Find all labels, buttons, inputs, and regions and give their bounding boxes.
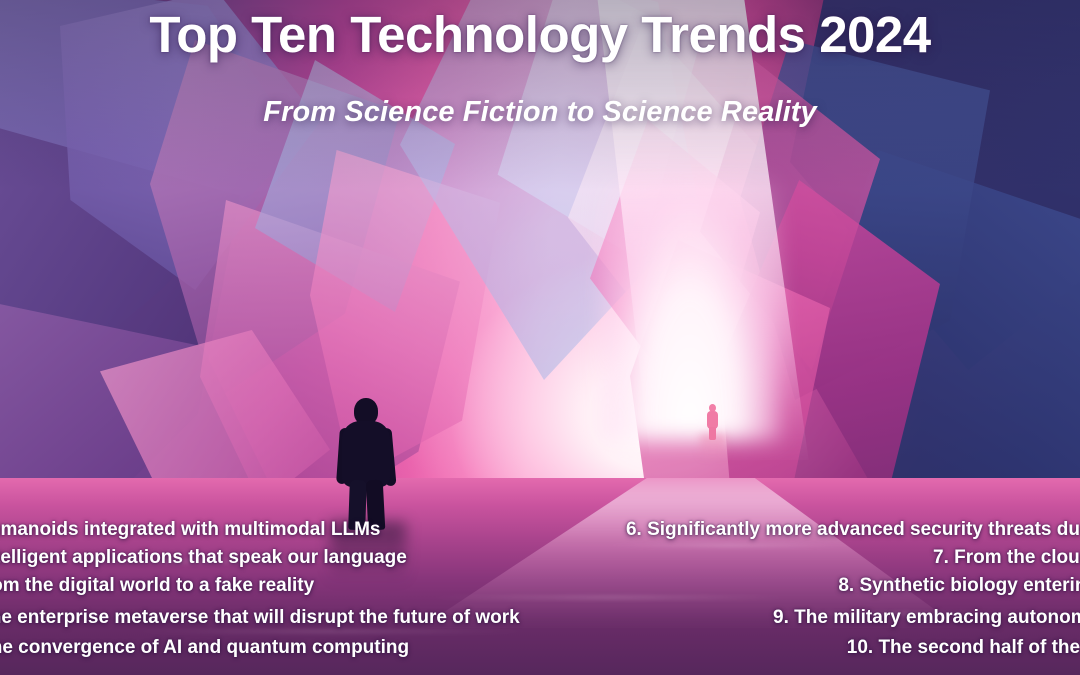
page-subtitle: From Science Fiction to Science Reality: [0, 96, 1080, 129]
trend-item-5: 5. The convergence of AI and quantum com…: [0, 637, 409, 659]
walking-person-silhouette: [336, 398, 398, 530]
trend-item-3: 3. From the digital world to a fake real…: [0, 575, 314, 597]
trend-row: 3. From the digital world to a fake real…: [0, 572, 1080, 600]
trend-item-1: 1. Humanoids integrated with multimodal …: [0, 519, 380, 541]
trend-item-2: 2. Intelligent applications that speak o…: [0, 547, 407, 569]
trend-row: 1. Humanoids integrated with multimodal …: [0, 516, 1080, 544]
trend-row: 5. The convergence of AI and quantum com…: [0, 634, 1080, 662]
page-title: Top Ten Technology Trends 2024: [0, 8, 1080, 61]
trend-item-4: 4. The enterprise metaverse that will di…: [0, 607, 520, 629]
trend-list: 1. Humanoids integrated with multimodal …: [0, 514, 1080, 675]
poster-canvas: Top Ten Technology Trends 2024 From Scie…: [0, 0, 1080, 675]
trend-item-10: 10. The second half of the chessboard: [847, 637, 1080, 659]
trend-item-9: 9. The military embracing autonomous wea…: [773, 607, 1080, 629]
near-figure-torso: [342, 421, 390, 487]
distant-figure-legs: [709, 427, 716, 440]
trend-item-8: 8. Synthetic biology entering mainstream: [838, 575, 1080, 597]
distant-person-figure: [705, 404, 720, 438]
trend-item-6: 6. Significantly more advanced security …: [626, 519, 1080, 541]
trend-row: 4. The enterprise metaverse that will di…: [0, 604, 1080, 632]
light-core-glow: [600, 180, 780, 440]
trend-item-7: 7. From the cloud to the edge: [933, 547, 1080, 569]
trend-row: 2. Intelligent applications that speak o…: [0, 544, 1080, 572]
headline-block: Top Ten Technology Trends 2024 From Scie…: [0, 8, 1080, 129]
